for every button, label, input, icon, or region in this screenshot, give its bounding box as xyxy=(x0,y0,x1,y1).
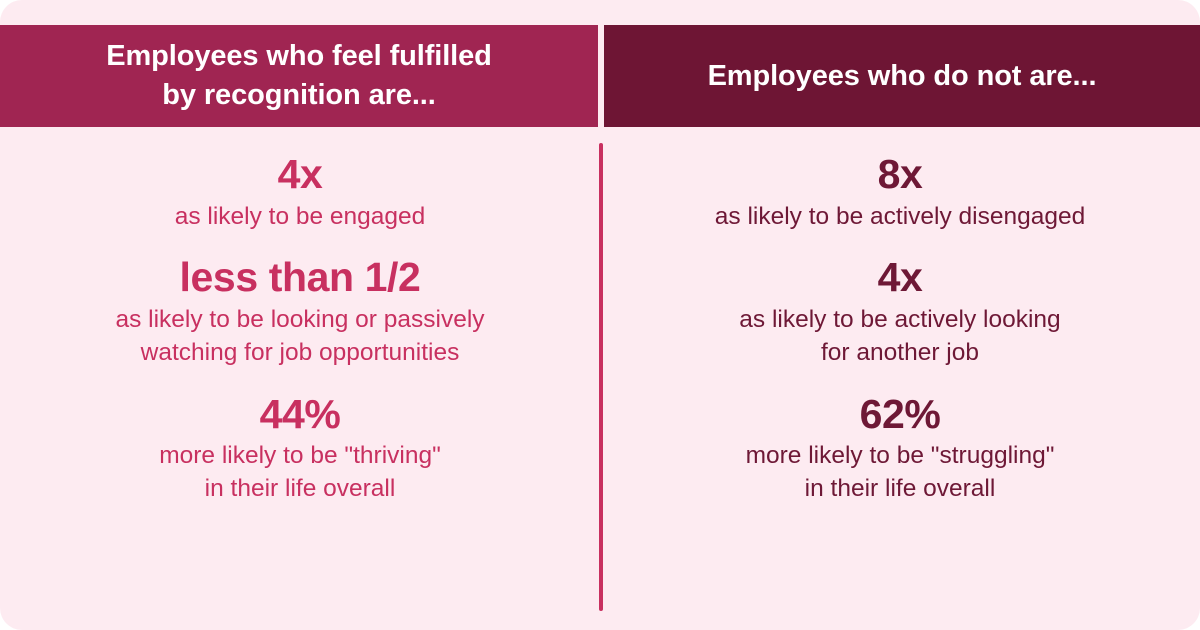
stat-block: 4x as likely to be engaged xyxy=(26,152,574,233)
stat-description: more likely to be "thriving" in their li… xyxy=(26,440,574,505)
header-band-not-fulfilled: Employees who do not are... xyxy=(604,25,1200,127)
stat-figure: 44% xyxy=(26,392,574,438)
header-row: Employees who feel fulfilled by recognit… xyxy=(0,25,1200,127)
stat-description: as likely to be actively disengaged xyxy=(626,201,1174,234)
infographic-card: Employees who feel fulfilled by recognit… xyxy=(0,0,1200,630)
stat-figure: 4x xyxy=(626,255,1174,301)
stat-figure: 8x xyxy=(626,152,1174,198)
stat-description: as likely to be looking or passively wat… xyxy=(26,304,574,369)
stat-description: as likely to be actively looking for ano… xyxy=(626,304,1174,369)
stat-block: 4x as likely to be actively looking for … xyxy=(626,255,1174,369)
header-title-fulfilled: Employees who feel fulfilled by recognit… xyxy=(106,37,492,115)
stat-description: more likely to be "struggling" in their … xyxy=(626,440,1174,505)
column-divider xyxy=(599,143,603,611)
column-fulfilled: 4x as likely to be engaged less than 1/2… xyxy=(0,140,600,620)
stat-block: 44% more likely to be "thriving" in thei… xyxy=(26,392,574,506)
header-title-not-fulfilled: Employees who do not are... xyxy=(708,57,1097,96)
stat-block: 62% more likely to be "struggling" in th… xyxy=(626,392,1174,506)
column-not-fulfilled: 8x as likely to be actively disengaged 4… xyxy=(600,140,1200,620)
stat-block: 8x as likely to be actively disengaged xyxy=(626,152,1174,233)
stat-block: less than 1/2 as likely to be looking or… xyxy=(26,255,574,369)
stat-figure: 62% xyxy=(626,392,1174,438)
stat-description: as likely to be engaged xyxy=(26,201,574,234)
header-band-fulfilled: Employees who feel fulfilled by recognit… xyxy=(0,25,598,127)
stat-figure: less than 1/2 xyxy=(26,255,574,301)
stat-figure: 4x xyxy=(26,152,574,198)
